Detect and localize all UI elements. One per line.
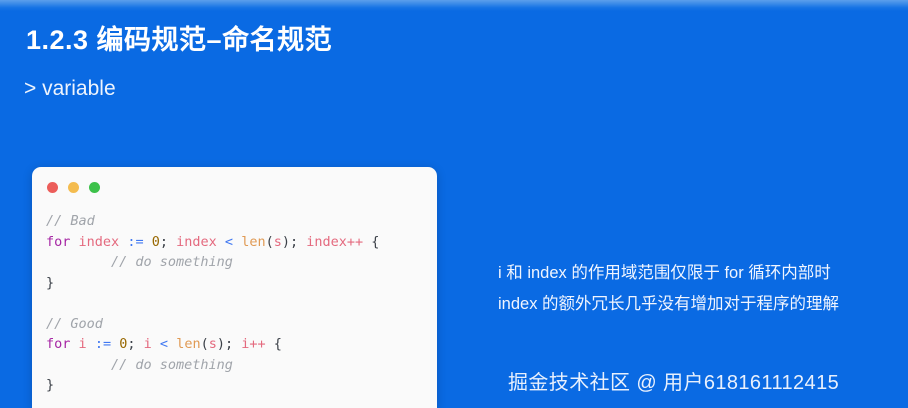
code-token-fn: len — [176, 336, 200, 352]
code-line: for index := 0; index < len(s); index++ … — [46, 232, 437, 253]
top-gradient-band — [0, 0, 908, 11]
maximize-icon[interactable] — [89, 182, 100, 193]
code-token-punc — [168, 336, 176, 352]
code-token-cmt: // do something — [46, 254, 233, 270]
code-token-punc: ( — [266, 234, 274, 250]
code-token-punc: { — [363, 234, 379, 250]
code-token-fn: len — [241, 234, 265, 250]
code-token-var: ++ — [347, 234, 363, 250]
annotation-text: i 和 index 的作用域范围仅限于 for 循环内部时 index 的额外冗… — [498, 258, 898, 320]
code-token-punc: { — [266, 336, 282, 352]
code-token-var: ++ — [249, 336, 265, 352]
code-token-punc — [111, 336, 119, 352]
code-token-punc — [233, 234, 241, 250]
code-token-op: < — [160, 336, 168, 352]
code-token-op: := — [95, 336, 111, 352]
code-window-titlebar — [32, 167, 437, 207]
code-line — [46, 293, 437, 314]
code-window: // Badfor index := 0; index < len(s); in… — [32, 167, 437, 408]
code-token-punc: ; — [127, 336, 143, 352]
code-token-cmt: // do something — [46, 357, 233, 373]
code-token-punc: ); — [217, 336, 241, 352]
code-line: // Bad — [46, 211, 437, 232]
code-line: } — [46, 375, 437, 396]
slide-canvas: 1.2.3 编码规范–命名规范 > variable // Badfor ind… — [0, 0, 908, 408]
code-token-punc — [70, 336, 78, 352]
code-token-punc — [87, 336, 95, 352]
code-token-punc — [144, 234, 152, 250]
code-token-punc — [217, 234, 225, 250]
code-line: } — [46, 273, 437, 294]
annotation-line-2: index 的额外冗长几乎没有增加对于程序的理解 — [498, 289, 898, 320]
code-token-punc — [46, 295, 54, 311]
code-token-cmt: // Bad — [46, 213, 95, 229]
code-token-var: index — [79, 234, 120, 250]
code-token-var: i — [144, 336, 152, 352]
code-token-var: index — [306, 234, 347, 250]
code-token-punc: } — [46, 275, 54, 291]
code-token-var: s — [209, 336, 217, 352]
minimize-icon[interactable] — [68, 182, 79, 193]
code-line: // do something — [46, 355, 437, 376]
code-token-punc — [152, 336, 160, 352]
code-token-punc: ( — [201, 336, 209, 352]
code-block: // Badfor index := 0; index < len(s); in… — [32, 207, 437, 396]
code-token-kw: for — [46, 234, 70, 250]
code-token-op: < — [225, 234, 233, 250]
code-token-punc: ); — [282, 234, 306, 250]
code-token-var: i — [79, 336, 87, 352]
code-line: // Good — [46, 314, 437, 335]
code-token-kw: for — [46, 336, 70, 352]
annotation-line-1: i 和 index 的作用域范围仅限于 for 循环内部时 — [498, 258, 898, 289]
code-token-punc — [70, 234, 78, 250]
code-token-punc: ; — [160, 234, 176, 250]
code-token-var: index — [176, 234, 217, 250]
code-token-num: 0 — [152, 234, 160, 250]
code-token-punc: } — [46, 377, 54, 393]
watermark: 掘金技术社区 @ 用户618161112415 — [508, 366, 839, 395]
page-subtitle: > variable — [24, 77, 116, 101]
page-title: 1.2.3 编码规范–命名规范 — [26, 18, 332, 57]
close-icon[interactable] — [47, 182, 58, 193]
code-token-cmt: // Good — [46, 316, 103, 332]
code-line: for i := 0; i < len(s); i++ { — [46, 334, 437, 355]
code-token-var: s — [274, 234, 282, 250]
code-line: // do something — [46, 252, 437, 273]
code-token-op: := — [127, 234, 143, 250]
